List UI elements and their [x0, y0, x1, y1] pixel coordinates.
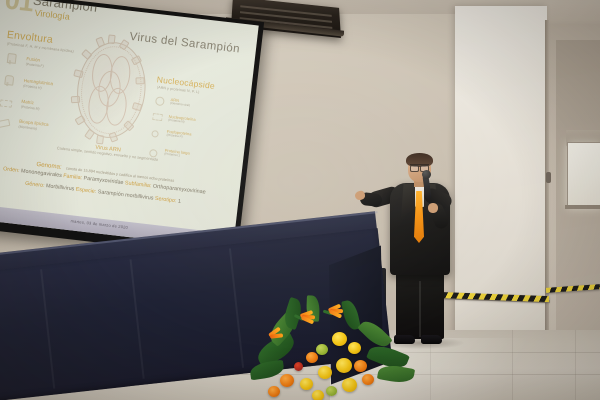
flower	[348, 342, 361, 354]
flower	[306, 352, 318, 363]
flower	[294, 362, 303, 371]
list-item: Fusión (Proteína F)	[26, 56, 45, 68]
projection-screen: 01 Sarampión Virología Virus del Sarampi…	[0, 0, 264, 259]
flower	[318, 366, 332, 379]
flower	[326, 386, 337, 396]
taxonomy-key: Serotipo:	[155, 196, 177, 204]
flower	[312, 390, 324, 400]
taxonomy-key: Orden:	[3, 166, 20, 174]
item-desc: (Proteína M)	[21, 105, 40, 111]
flower	[300, 378, 313, 390]
taxonomy-value: Sarampión morbillivirus	[97, 189, 153, 201]
nucleoprotein-icon	[152, 111, 161, 121]
window-icon	[567, 142, 600, 208]
taxonomy-key: Subfamilia:	[125, 180, 152, 189]
flower	[316, 344, 328, 355]
right-hand	[428, 203, 438, 213]
fusion-protein-icon	[6, 53, 16, 65]
taxonomy-key: Especie:	[75, 187, 96, 195]
shoe	[421, 335, 442, 344]
flower	[280, 374, 294, 387]
flower	[354, 360, 367, 372]
microphone-head-icon	[422, 170, 431, 179]
speaker-person	[372, 155, 467, 347]
list-item: Fosfoproteína (Proteína P)	[166, 129, 192, 140]
trouser-crease	[419, 281, 421, 337]
flower	[362, 374, 374, 385]
slide-number: 01	[3, 0, 34, 18]
lipid-bilayer-icon	[0, 117, 7, 129]
item-desc: (Genoma viral)	[170, 102, 190, 108]
measles-virus-diagram	[66, 33, 155, 145]
flower	[342, 378, 357, 392]
hemagglutinin-icon	[3, 75, 13, 87]
flower	[268, 386, 280, 397]
door-handle-icon[interactable]	[546, 172, 551, 183]
shoe	[394, 335, 415, 344]
list-item: Nucleoproteína (Proteína N)	[168, 114, 196, 126]
matrix-protein-icon	[0, 97, 10, 109]
taxonomy-key: Familia:	[63, 173, 82, 181]
list-item: ARN (Genoma viral)	[170, 97, 191, 108]
rna-icon	[154, 94, 163, 104]
flower	[336, 358, 352, 373]
list-item: Matriz (Proteína M)	[21, 99, 41, 111]
list-item: Hemaglutinina (Proteína H)	[23, 78, 53, 91]
window-sill	[565, 205, 600, 209]
taxonomy-key: Género:	[25, 181, 45, 189]
presentation-photo: 01 Sarampión Virología Virus del Sarampi…	[0, 0, 600, 400]
item-desc: (Proteína F)	[26, 62, 44, 68]
phosphoprotein-icon	[150, 128, 159, 138]
taxonomy-value: 1	[177, 198, 181, 204]
flower	[332, 332, 347, 346]
taxonomy-value: Morbillivirus	[46, 183, 75, 192]
list-item: Bicapa lipídica (Membrana)	[18, 119, 49, 132]
